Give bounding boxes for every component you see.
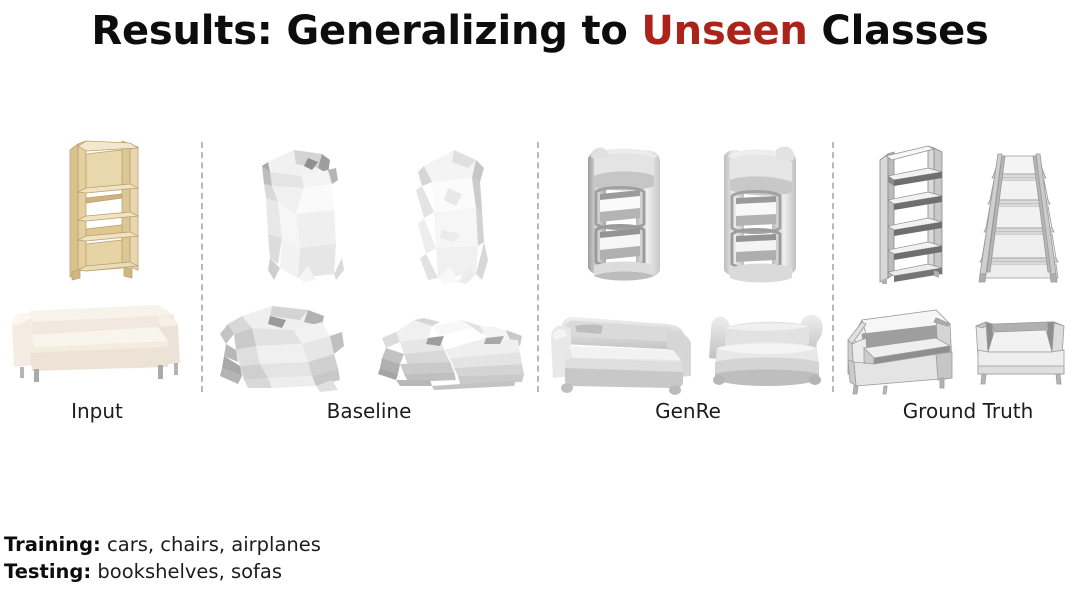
training-value: cars, chairs, airplanes bbox=[107, 533, 321, 556]
render-baseline-bookshelf-view2 bbox=[398, 142, 508, 287]
render-groundtruth-sofa-view1 bbox=[840, 304, 962, 396]
testing-value: bookshelves, sofas bbox=[97, 560, 282, 583]
page-title-part1: Results: Generalizing to bbox=[91, 8, 641, 54]
results-figure-grid bbox=[0, 128, 1080, 393]
column-divider-genre-groundtruth bbox=[832, 142, 834, 392]
render-genre-sofa-view2 bbox=[705, 308, 830, 393]
render-baseline-bookshelf-view1 bbox=[248, 140, 358, 285]
page-title-part2: Classes bbox=[808, 8, 989, 54]
page-title: Results: Generalizing to Unseen Classes bbox=[0, 8, 1080, 54]
render-input-sofa bbox=[8, 291, 194, 386]
render-input-bookshelf bbox=[62, 136, 148, 281]
render-genre-sofa-view1 bbox=[547, 306, 699, 394]
render-genre-bookshelf-view2 bbox=[710, 142, 810, 284]
column-label-ground-truth: Ground Truth bbox=[878, 399, 1058, 423]
column-divider-input-baseline bbox=[201, 142, 203, 392]
dataset-split-note: Training: cars, chairs, airplanes Testin… bbox=[4, 531, 321, 585]
testing-label: Testing: bbox=[4, 560, 91, 583]
render-baseline-sofa-view2 bbox=[370, 306, 535, 391]
render-groundtruth-sofa-view2 bbox=[968, 308, 1074, 394]
testing-line: Testing: bookshelves, sofas bbox=[4, 558, 321, 585]
training-label: Training: bbox=[4, 533, 101, 556]
render-groundtruth-bookshelf-view2 bbox=[966, 146, 1070, 284]
training-line: Training: cars, chairs, airplanes bbox=[4, 531, 321, 558]
column-label-genre: GenRe bbox=[618, 399, 758, 423]
column-label-baseline: Baseline bbox=[299, 399, 439, 423]
page-title-accent: Unseen bbox=[641, 8, 807, 54]
render-genre-bookshelf-view1 bbox=[578, 142, 678, 284]
render-baseline-sofa-view1 bbox=[212, 296, 362, 391]
column-label-input: Input bbox=[27, 399, 167, 423]
render-groundtruth-bookshelf-view1 bbox=[872, 142, 954, 284]
column-divider-baseline-genre bbox=[537, 142, 539, 392]
